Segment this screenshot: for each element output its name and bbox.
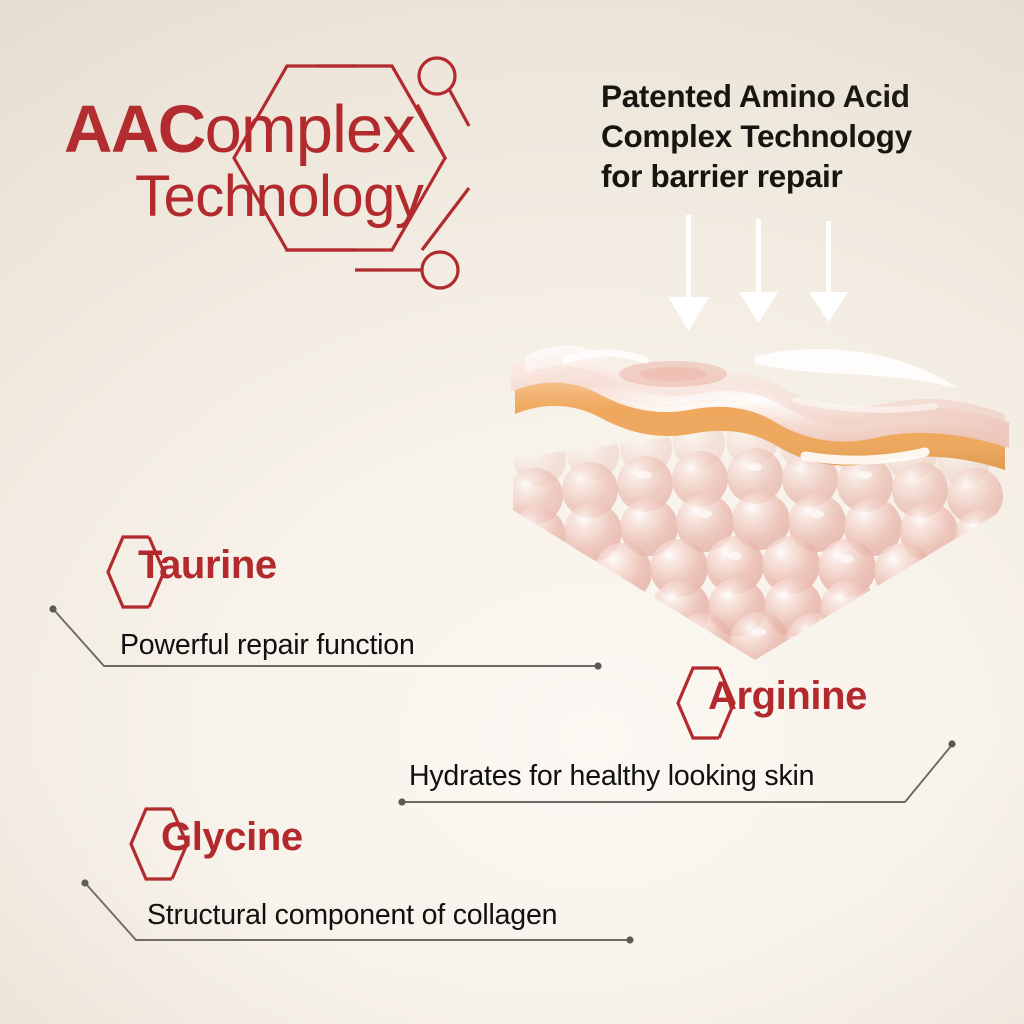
feature-desc-glycine: Structural component of collagen [147,899,557,932]
headline: Patented Amino Acid Complex Technology f… [601,76,1001,196]
logo-aac: AAC [64,92,205,167]
headline-line-1: Patented Amino Acid [601,76,1001,116]
feature-desc-taurine: Powerful repair function [120,629,415,662]
feature-desc-arginine: Hydrates for healthy looking skin [409,760,814,793]
feature-name-taurine: Taurine [138,543,277,588]
logo-technology: Technology [135,168,423,226]
feature-name-glycine: Glycine [161,815,303,860]
absorption-arrows-icon [660,215,890,335]
logo-omplex: omplex [205,92,415,167]
promo-canvas: AAComplex Technology Patented Amino Acid… [0,0,1024,1024]
headline-line-3: for barrier repair [601,156,1001,196]
aac-logo: AAComplex Technology [55,48,525,298]
headline-line-2: Complex Technology [601,116,1001,156]
feature-name-arginine: Arginine [708,674,867,719]
logo-wordmark: AAComplex Technology [64,96,423,226]
